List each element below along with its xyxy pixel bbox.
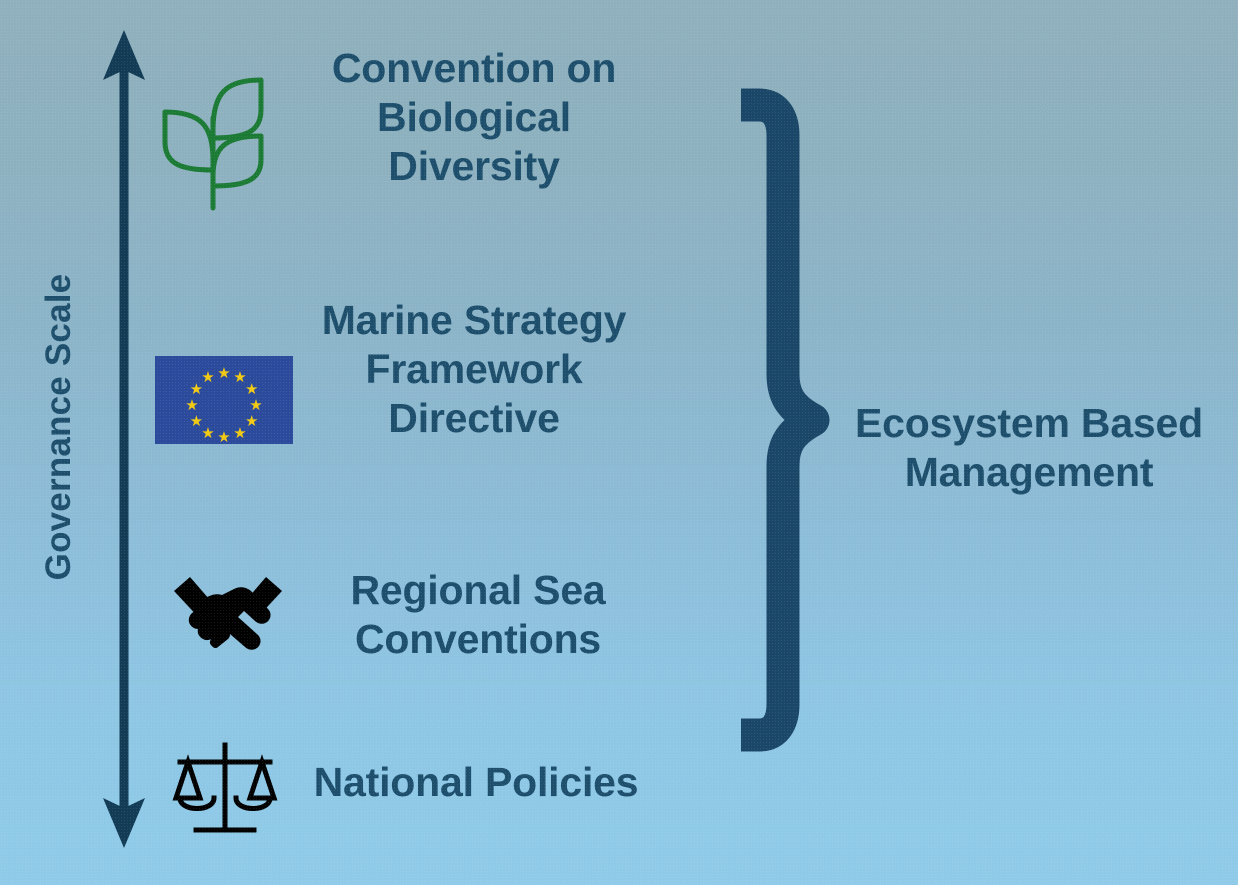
governance-scale-label: Governance Scale — [39, 257, 79, 597]
label-national-policies: National Policies — [290, 758, 662, 807]
label-line: Directive — [388, 395, 559, 441]
label-regional-sea-conventions: Regional Sea Conventions — [308, 566, 648, 664]
eu-flag-field: ★ ★ ★ ★ ★ ★ ★ ★ ★ ★ ★ ★ — [155, 356, 293, 444]
label-convention-biological-diversity: Convention on Biological Diversity — [298, 44, 650, 192]
label-line: Management — [905, 449, 1154, 495]
label-ecosystem-based-management: Ecosystem Based Management — [838, 399, 1220, 497]
label-line: Diversity — [388, 143, 559, 189]
scales-of-justice-icon — [170, 742, 280, 840]
label-line: Regional Sea — [350, 567, 605, 613]
label-marine-strategy-framework-directive: Marine Strategy Framework Directive — [290, 296, 658, 444]
label-line: Conventions — [355, 616, 601, 662]
handshake-icon — [172, 565, 284, 657]
diagram-canvas: Governance Scale ★ ★ ★ ★ ★ ★ ★ ★ ★ ★ ★ ★ — [0, 0, 1238, 885]
label-line: Ecosystem Based — [855, 400, 1203, 446]
european-union-flag-icon: ★ ★ ★ ★ ★ ★ ★ ★ ★ ★ ★ ★ — [155, 356, 293, 444]
label-line: Marine Strategy — [322, 297, 627, 343]
label-line: Framework — [366, 346, 583, 392]
label-line: Convention on — [332, 45, 616, 91]
label-line: National Policies — [314, 759, 639, 805]
label-line: Biological — [377, 94, 571, 140]
leaf-plant-icon — [145, 52, 281, 214]
right-curly-brace-icon — [725, 88, 840, 752]
